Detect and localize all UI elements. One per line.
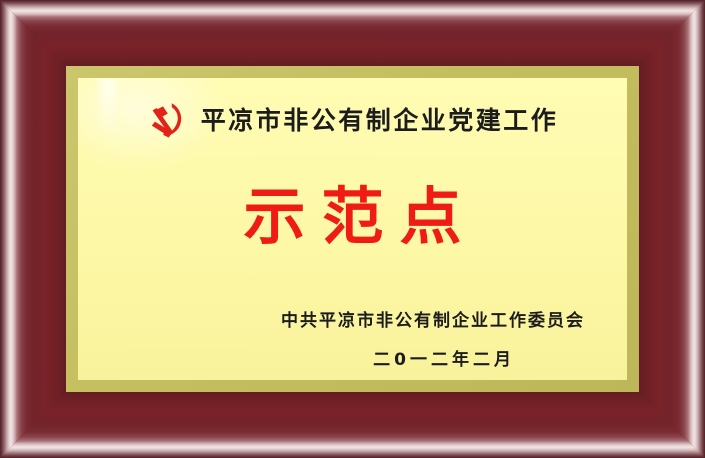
plaque-date: 二0一二年二月 xyxy=(373,345,515,370)
plaque-issuer: 中共平凉市非公有制企业工作委员会 xyxy=(281,306,585,331)
plaque-panel: 平凉市非公有制企业党建工作 示范点 中共平凉市非公有制企业工作委员会 二0一二年… xyxy=(78,78,627,380)
plaque-title: 平凉市非公有制企业党建工作 xyxy=(201,108,559,133)
award-plaque: 平凉市非公有制企业党建工作 示范点 中共平凉市非公有制企业工作委员会 二0一二年… xyxy=(0,0,705,458)
cpc-hammer-sickle-emblem xyxy=(147,100,187,140)
plaque-headline: 示范点 xyxy=(78,186,627,248)
plaque-title-row: 平凉市非公有制企业党建工作 xyxy=(78,100,627,140)
